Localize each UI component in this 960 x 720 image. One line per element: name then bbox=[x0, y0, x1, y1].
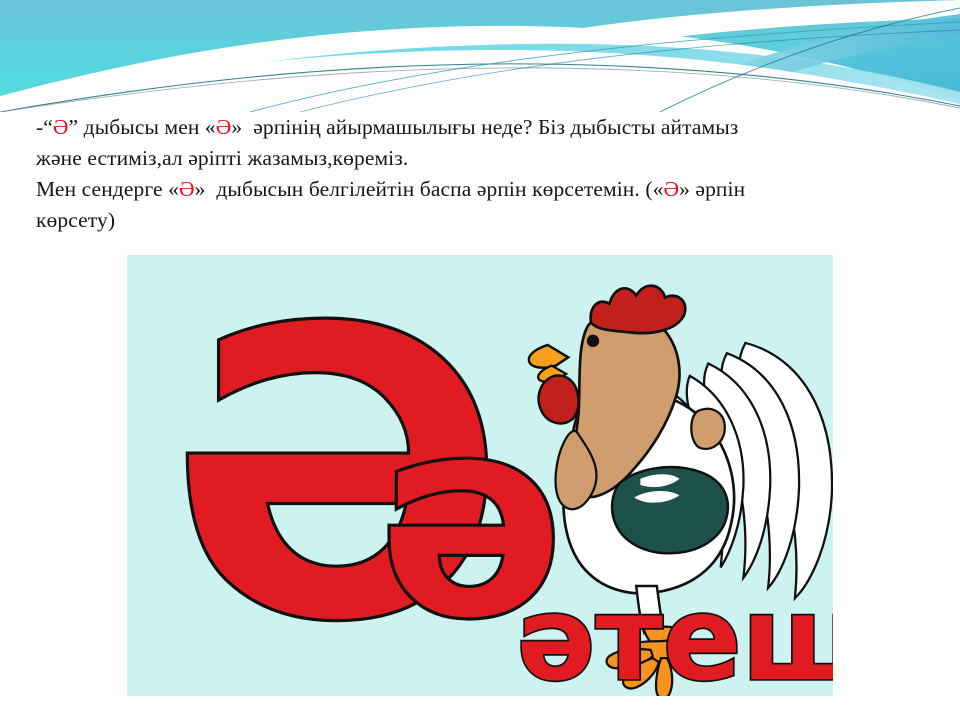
caption-word-ateş: әтеш bbox=[517, 572, 833, 696]
illustration-graphic: Ә ә bbox=[127, 255, 833, 696]
rooster-wattle bbox=[539, 376, 579, 424]
letter-ae-rooster-card: Ә ә bbox=[127, 255, 833, 696]
rooster-comb bbox=[591, 286, 686, 333]
text-run: -“ bbox=[36, 115, 53, 139]
text-line-1: -“Ә” дыбысы мен «Ә» әрпінің айырмашылығы… bbox=[36, 112, 926, 143]
highlighted-letter: Ә bbox=[53, 115, 69, 139]
highlighted-letter: Ә bbox=[216, 115, 232, 139]
lesson-text-block: -“Ә” дыбысы мен «Ә» әрпінің айырмашылығы… bbox=[36, 112, 926, 236]
text-run: ” дыбысы мен « bbox=[69, 115, 216, 139]
text-run: Мен сендерге « bbox=[36, 177, 179, 201]
text-run: » дыбысын белгілейтін баспа әрпін көрсет… bbox=[195, 177, 664, 201]
rooster-shoulder-tuft bbox=[691, 409, 725, 449]
text-run: » әрпін bbox=[679, 177, 745, 201]
wave-graphic bbox=[0, 0, 960, 112]
text-line-3: Мен сендерге «Ә» дыбысын белгілейтін бас… bbox=[36, 174, 926, 205]
rooster-eye bbox=[587, 335, 599, 347]
decorative-wave-banner bbox=[0, 0, 960, 112]
text-line-4: көрсету) bbox=[36, 205, 926, 236]
text-run: және естиміз,ал әріпті жазамыз,көреміз. bbox=[36, 146, 408, 170]
text-line-2: және естиміз,ал әріпті жазамыз,көреміз. bbox=[36, 143, 926, 174]
text-run: көрсету) bbox=[36, 208, 115, 232]
highlighted-letter: Ә bbox=[179, 177, 195, 201]
highlighted-letter: Ә bbox=[663, 177, 679, 201]
text-run: » әрпінің айырмашылығы неде? Біз дыбысты… bbox=[231, 115, 738, 139]
